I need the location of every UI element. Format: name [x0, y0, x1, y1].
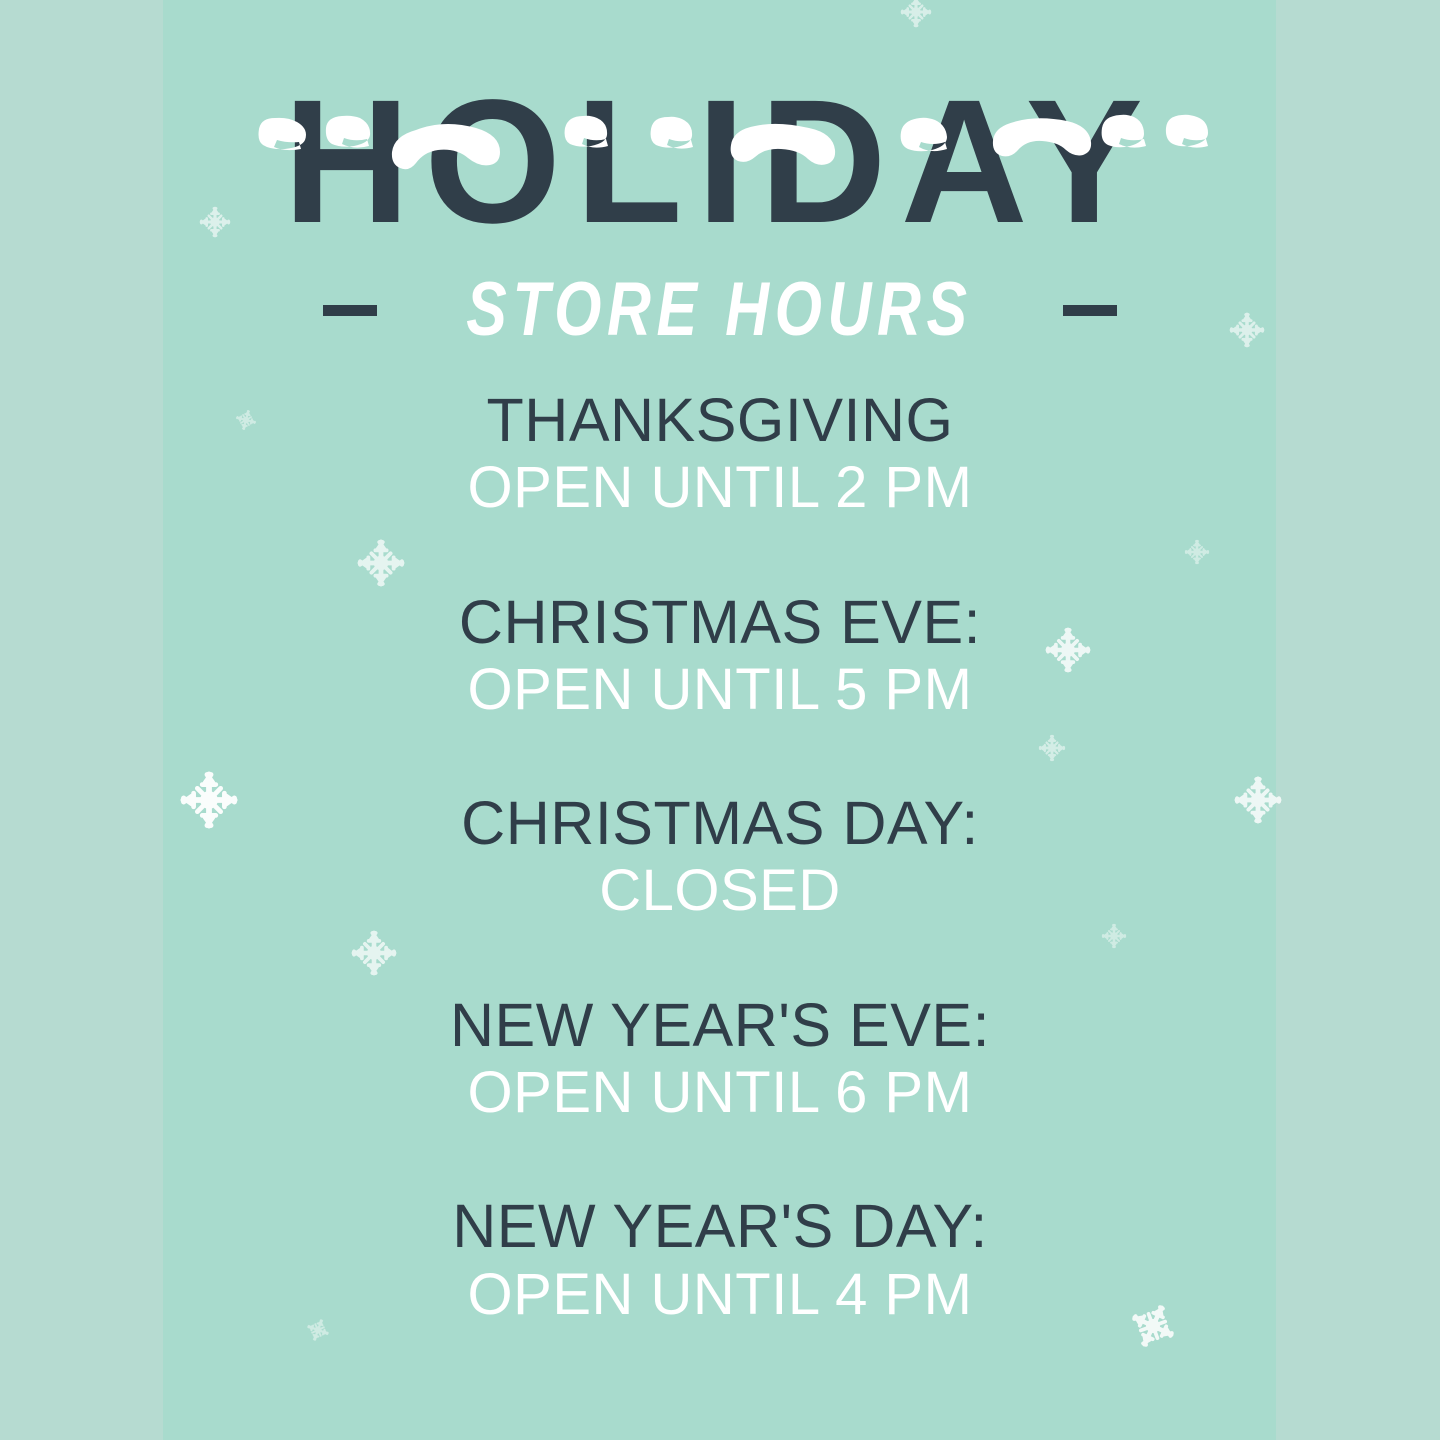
subtitle-dash-right	[1063, 305, 1117, 316]
hours-entry-day: NEW YEAR'S EVE:	[450, 991, 990, 1059]
holiday-store-hours-poster: HOLIDAY STORE HOURS	[0, 0, 1440, 1440]
hours-entry-time: OPEN UNTIL 6 PM	[450, 1059, 990, 1126]
hours-entry-time: CLOSED	[461, 857, 979, 924]
hours-entry-day: CHRISTMAS DAY:	[461, 789, 979, 857]
hours-entry-time: OPEN UNTIL 4 PM	[452, 1261, 988, 1328]
hours-entry-day: NEW YEAR'S DAY:	[452, 1192, 988, 1260]
poster-content: HOLIDAY STORE HOURS	[0, 0, 1440, 1440]
poster-subtitle-block: STORE HOURS	[323, 268, 1116, 352]
hours-entry: CHRISTMAS DAY:CLOSED	[461, 789, 979, 925]
store-hours-list: THANKSGIVINGOPEN UNTIL 2 PMCHRISTMAS EVE…	[0, 386, 1440, 1328]
hours-entry: CHRISTMAS EVE:OPEN UNTIL 5 PM	[459, 588, 981, 724]
hours-entry: NEW YEAR'S EVE:OPEN UNTIL 6 PM	[450, 991, 990, 1127]
poster-subtitle: STORE HOURS	[467, 272, 973, 348]
hours-entry-time: OPEN UNTIL 5 PM	[459, 656, 981, 723]
hours-entry-time: OPEN UNTIL 2 PM	[468, 454, 973, 521]
hours-entry: NEW YEAR'S DAY:OPEN UNTIL 4 PM	[452, 1192, 988, 1328]
poster-title-block: HOLIDAY	[220, 74, 1220, 244]
hours-entry-day: THANKSGIVING	[468, 386, 973, 454]
subtitle-dash-left	[323, 305, 377, 316]
hours-entry-day: CHRISTMAS EVE:	[459, 588, 981, 656]
hours-entry: THANKSGIVINGOPEN UNTIL 2 PM	[468, 386, 973, 522]
